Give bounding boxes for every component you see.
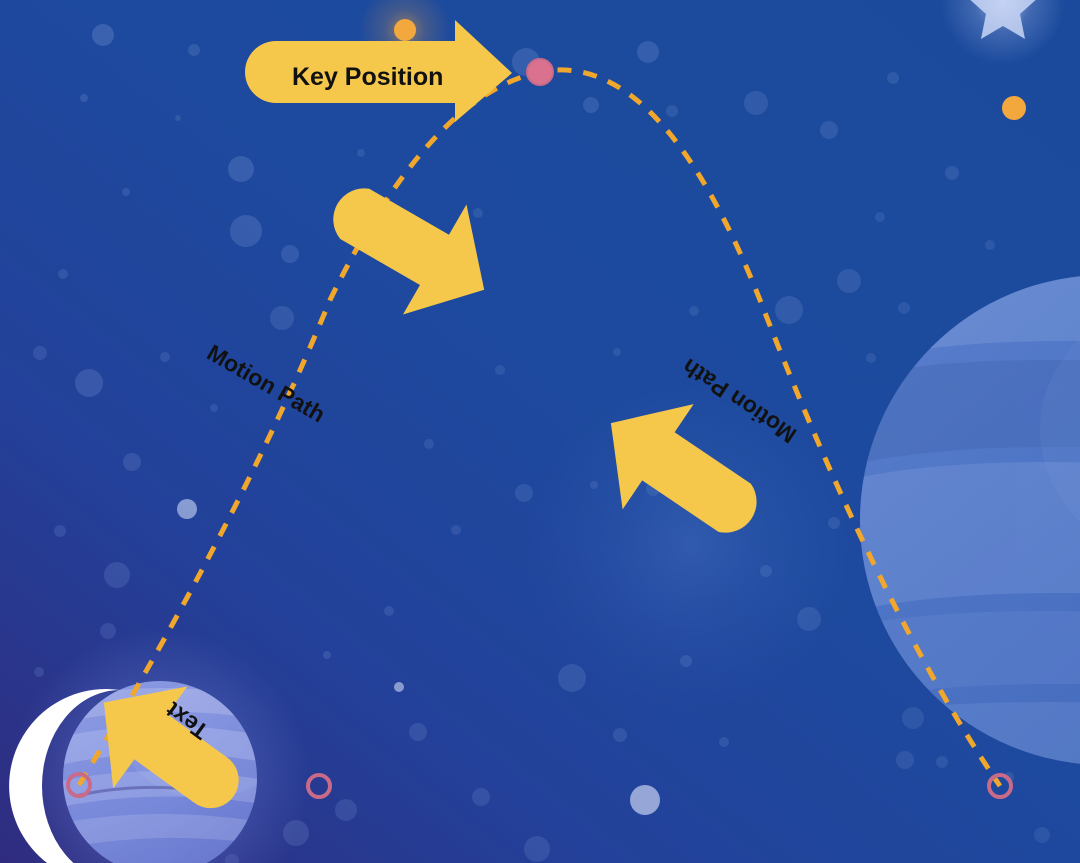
orange-dot-right (1002, 96, 1026, 120)
scene-canvas: Key Position Motion Path Motion Path Tex… (0, 0, 1080, 863)
scene-svg: Key Position Motion Path Motion Path Tex… (0, 0, 1080, 863)
arrow-label-key-position: Key Position (292, 63, 443, 91)
marker-key-position[interactable] (527, 59, 553, 85)
